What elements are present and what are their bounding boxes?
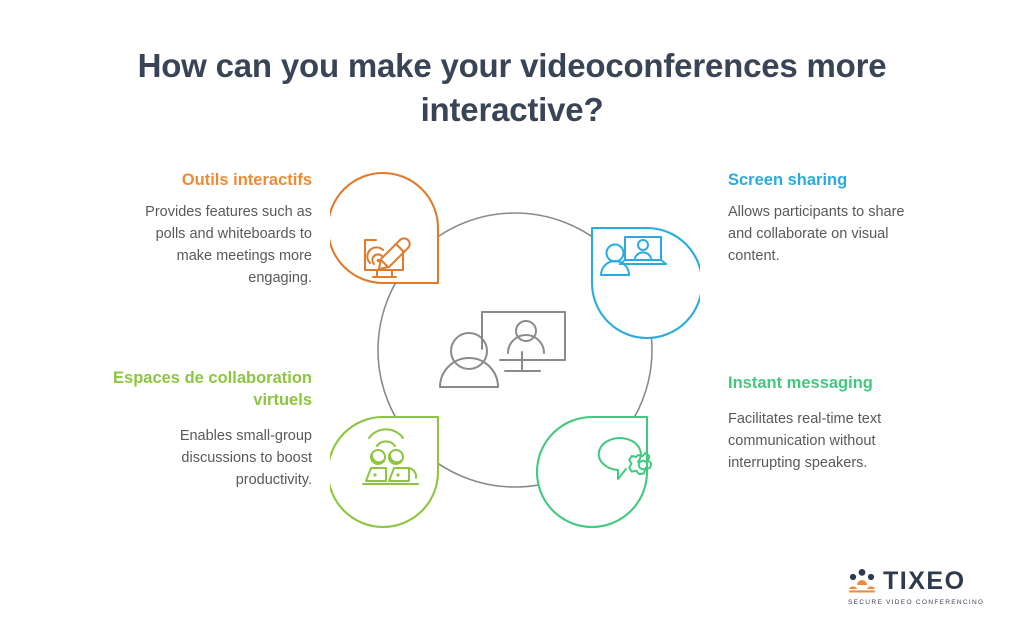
badge-shape-screen-sharing	[592, 228, 700, 338]
feature-block-instant-messaging: Instant messaging Facilitates real-time …	[728, 373, 928, 474]
feature-body-screen-sharing: Allows participants to share and collabo…	[728, 201, 928, 267]
tixeo-logo: TIXEO SECURE VIDEO CONFERENCING	[848, 568, 972, 614]
feature-body-virtual-collaboration: Enables small-group discussions to boost…	[112, 425, 312, 491]
feature-heading-virtual-collaboration: Espaces de collaboration virtuels	[112, 368, 312, 412]
feature-block-interactive-tools: Outils interactifs Provides features suc…	[112, 170, 312, 289]
badge-shape-interactive-tools	[330, 173, 438, 283]
feature-block-screen-sharing: Screen sharing Allows participants to sh…	[728, 170, 928, 267]
logo-tagline: SECURE VIDEO CONFERENCING	[848, 599, 972, 606]
feature-heading-screen-sharing: Screen sharing	[728, 170, 928, 192]
page-title: How can you make your videoconferences m…	[112, 44, 912, 131]
feature-body-interactive-tools: Provides features such as polls and whit…	[112, 201, 312, 289]
badge-screen-sharing[interactable]	[592, 228, 700, 338]
feature-heading-interactive-tools: Outils interactifs	[112, 170, 312, 192]
badge-virtual-collaboration[interactable]	[330, 417, 438, 527]
badge-instant-messaging[interactable]	[537, 417, 651, 527]
badge-shape-instant-messaging	[537, 417, 647, 527]
feature-body-instant-messaging: Facilitates real-time text communication…	[728, 408, 928, 474]
feature-heading-instant-messaging: Instant messaging	[728, 373, 928, 395]
logo-row: TIXEO	[848, 568, 972, 594]
person-monitor-videocall-icon	[440, 312, 565, 387]
badge-interactive-tools[interactable]	[330, 173, 438, 283]
circular-diagram	[330, 165, 700, 535]
feature-block-virtual-collaboration: Espaces de collaboration virtuels Enable…	[112, 368, 312, 491]
three-people-logo-icon	[848, 568, 876, 594]
badge-shape-virtual-collaboration	[330, 417, 438, 527]
logo-wordmark: TIXEO	[883, 569, 966, 594]
infographic-page: How can you make your videoconferences m…	[0, 0, 1024, 640]
